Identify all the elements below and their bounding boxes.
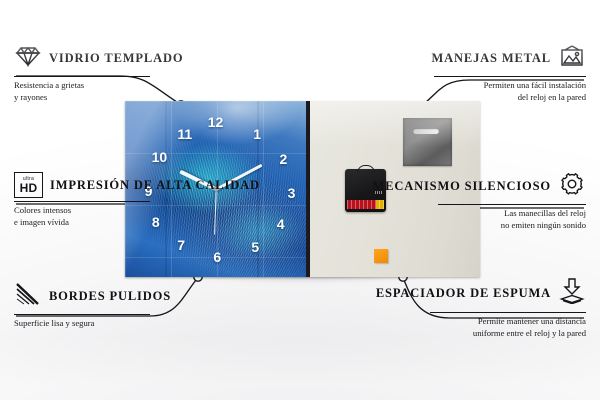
- clock-numeral-2: 2: [279, 152, 287, 166]
- diamond-icon: [14, 44, 42, 73]
- callout-glass: VIDRIO TEMPLADO Resistencia a grietas y …: [14, 44, 150, 103]
- callout-edges-desc: Superficie lisa y segura: [14, 318, 150, 329]
- callout-hooks: MANEJAS METAL Permiten una fácil instala…: [434, 44, 586, 103]
- callout-print: ultra HD IMPRESIÓN DE ALTA CALIDAD Color…: [14, 172, 150, 228]
- foam-spacer-icon: [558, 278, 586, 309]
- callout-hooks-desc: Permiten una fácil instalación del reloj…: [434, 80, 586, 103]
- clock-numeral-3: 3: [288, 186, 296, 200]
- ultra-hd-icon-main: HD: [20, 182, 38, 194]
- callout-hooks-title: MANEJAS METAL: [431, 51, 551, 66]
- callout-print-rule: [14, 201, 150, 202]
- callout-mechanism: MECANISMO SILENCIOSO Las manecillas del …: [438, 172, 586, 231]
- movement-hanger-loop: [357, 165, 375, 173]
- callout-foam: ESPACIADOR DE ESPUMA Permite mantener un…: [430, 278, 586, 339]
- callout-hooks-rule: [434, 76, 586, 77]
- callout-edges-rule: [14, 314, 150, 315]
- metal-hanger-plate: [403, 118, 452, 166]
- clock-numeral-8: 8: [152, 215, 160, 229]
- callout-mechanism-title: MECANISMO SILENCIOSO: [373, 179, 552, 194]
- clock-numeral-12: 12: [208, 115, 224, 129]
- gear-icon: [558, 172, 586, 201]
- callout-mechanism-desc: Las manecillas del reloj no emiten ningú…: [438, 208, 586, 231]
- callout-edges-title: BORDES PULIDOS: [49, 289, 171, 304]
- callout-foam-rule: [430, 312, 586, 313]
- callout-foam-desc: Permite mantener una distancia uniforme …: [430, 316, 586, 339]
- callout-print-title: IMPRESIÓN DE ALTA CALIDAD: [50, 178, 260, 193]
- clock-numeral-6: 6: [213, 250, 221, 264]
- clock-numeral-5: 5: [251, 240, 259, 254]
- ultra-hd-icon: ultra HD: [14, 172, 43, 198]
- callout-glass-desc: Resistencia a grietas y rayones: [14, 80, 150, 103]
- callout-print-desc: Colores intensos e imagen vívida: [14, 205, 150, 228]
- clock-numeral-1: 1: [253, 127, 261, 141]
- clock-numeral-11: 11: [177, 127, 192, 141]
- polished-edges-icon: [14, 282, 42, 311]
- clock-numeral-4: 4: [277, 217, 285, 231]
- callout-glass-rule: [14, 76, 150, 77]
- movement-label-band: [347, 200, 384, 209]
- infographic-canvas: 12 1 2 3 4 5 6 7 8 9 10 11: [0, 0, 600, 400]
- clock-numeral-10: 10: [152, 150, 168, 164]
- picture-frame-icon: [558, 44, 586, 73]
- callout-edges: BORDES PULIDOS Superficie lisa y segura: [14, 282, 150, 330]
- callout-mechanism-rule: [438, 204, 586, 205]
- clock-numeral-7: 7: [177, 238, 185, 252]
- foam-spacer: [374, 249, 388, 263]
- callout-glass-title: VIDRIO TEMPLADO: [49, 51, 183, 66]
- hanger-slot: [413, 128, 439, 134]
- callout-foam-title: ESPACIADOR DE ESPUMA: [376, 286, 551, 301]
